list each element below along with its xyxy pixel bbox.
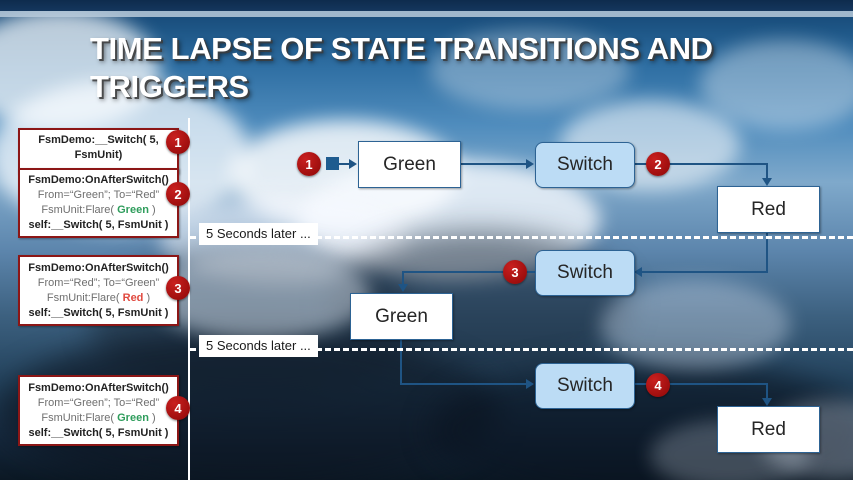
code-line: From=“Red”; To=“Green” (20, 276, 177, 291)
code-line: FsmUnit:Flare( Green ) (20, 203, 177, 218)
start-marker (326, 157, 339, 170)
top-band (0, 0, 853, 11)
code-line: self:__Switch( 5, FsmUnit ) (20, 426, 177, 441)
step-badge-3: 3 (166, 276, 190, 300)
time-label-2: 5 Seconds later ... (199, 335, 318, 357)
flow-badge-1: 1 (297, 152, 321, 176)
page-title: TIME LAPSE OF STATE TRANSITIONS AND TRIG… (90, 30, 790, 106)
code-line: FsmDemo:OnAfterSwitch() (20, 261, 177, 276)
top-band-light (0, 11, 853, 17)
code-line: FsmUnit:Flare( Red ) (20, 291, 177, 306)
connector-green2-down (400, 338, 402, 385)
connector-down-green2 (402, 271, 404, 285)
arrowhead-right (526, 379, 534, 389)
panel-divider (188, 118, 190, 480)
step-badge-4: 4 (166, 396, 190, 420)
flow-badge-3: 3 (503, 260, 527, 284)
code-line: FsmUnit:Flare( Green ) (20, 411, 177, 426)
connector-down-red2 (766, 383, 768, 399)
node-red-1[interactable]: Red (717, 186, 820, 233)
slide-canvas: TIME LAPSE OF STATE TRANSITIONS AND TRIG… (0, 0, 853, 480)
connector-green-switch1 (459, 163, 527, 165)
code-block-4: FsmDemo:OnAfterSwitch() From=“Green”; To… (18, 375, 179, 446)
node-switch-3[interactable]: Switch (535, 363, 635, 409)
code-line: From=“Green”; To=“Red” (20, 188, 177, 203)
flow-badge-4: 4 (646, 373, 670, 397)
arrowhead-left (634, 267, 642, 277)
flow-badge-2: 2 (646, 152, 670, 176)
arrowhead-right (526, 159, 534, 169)
code-line: FsmDemo:OnAfterSwitch() (20, 381, 177, 396)
connector-to-switch2 (634, 271, 767, 273)
time-label-1: 5 Seconds later ... (199, 223, 318, 245)
node-switch-2[interactable]: Switch (535, 250, 635, 296)
node-switch-1[interactable]: Switch (535, 142, 635, 188)
code-block-2: FsmDemo:OnAfterSwitch() From=“Green”; To… (18, 168, 179, 238)
code-line: FsmDemo:OnAfterSwitch() (20, 173, 177, 188)
code-line: self:__Switch( 5, FsmUnit ) (20, 218, 177, 233)
connector-down-red1 (766, 163, 768, 179)
arrowhead-right (349, 159, 357, 169)
node-green-1[interactable]: Green (358, 141, 461, 188)
arrowhead-down (762, 178, 772, 186)
code-line: From=“Green”; To=“Red” (20, 396, 177, 411)
node-red-2[interactable]: Red (717, 406, 820, 453)
node-green-2[interactable]: Green (350, 293, 453, 340)
code-line: self:__Switch( 5, FsmUnit ) (20, 306, 177, 321)
arrowhead-down (762, 398, 772, 406)
code-block-3: FsmDemo:OnAfterSwitch() From=“Red”; To=“… (18, 255, 179, 326)
step-badge-2: 2 (166, 182, 190, 206)
step-badge-1: 1 (166, 130, 190, 154)
code-line: FsmDemo:__Switch( 5, (20, 133, 177, 148)
connector-to-switch3 (400, 383, 527, 385)
code-line: FsmUnit) (20, 148, 177, 163)
arrowhead-down (398, 284, 408, 292)
